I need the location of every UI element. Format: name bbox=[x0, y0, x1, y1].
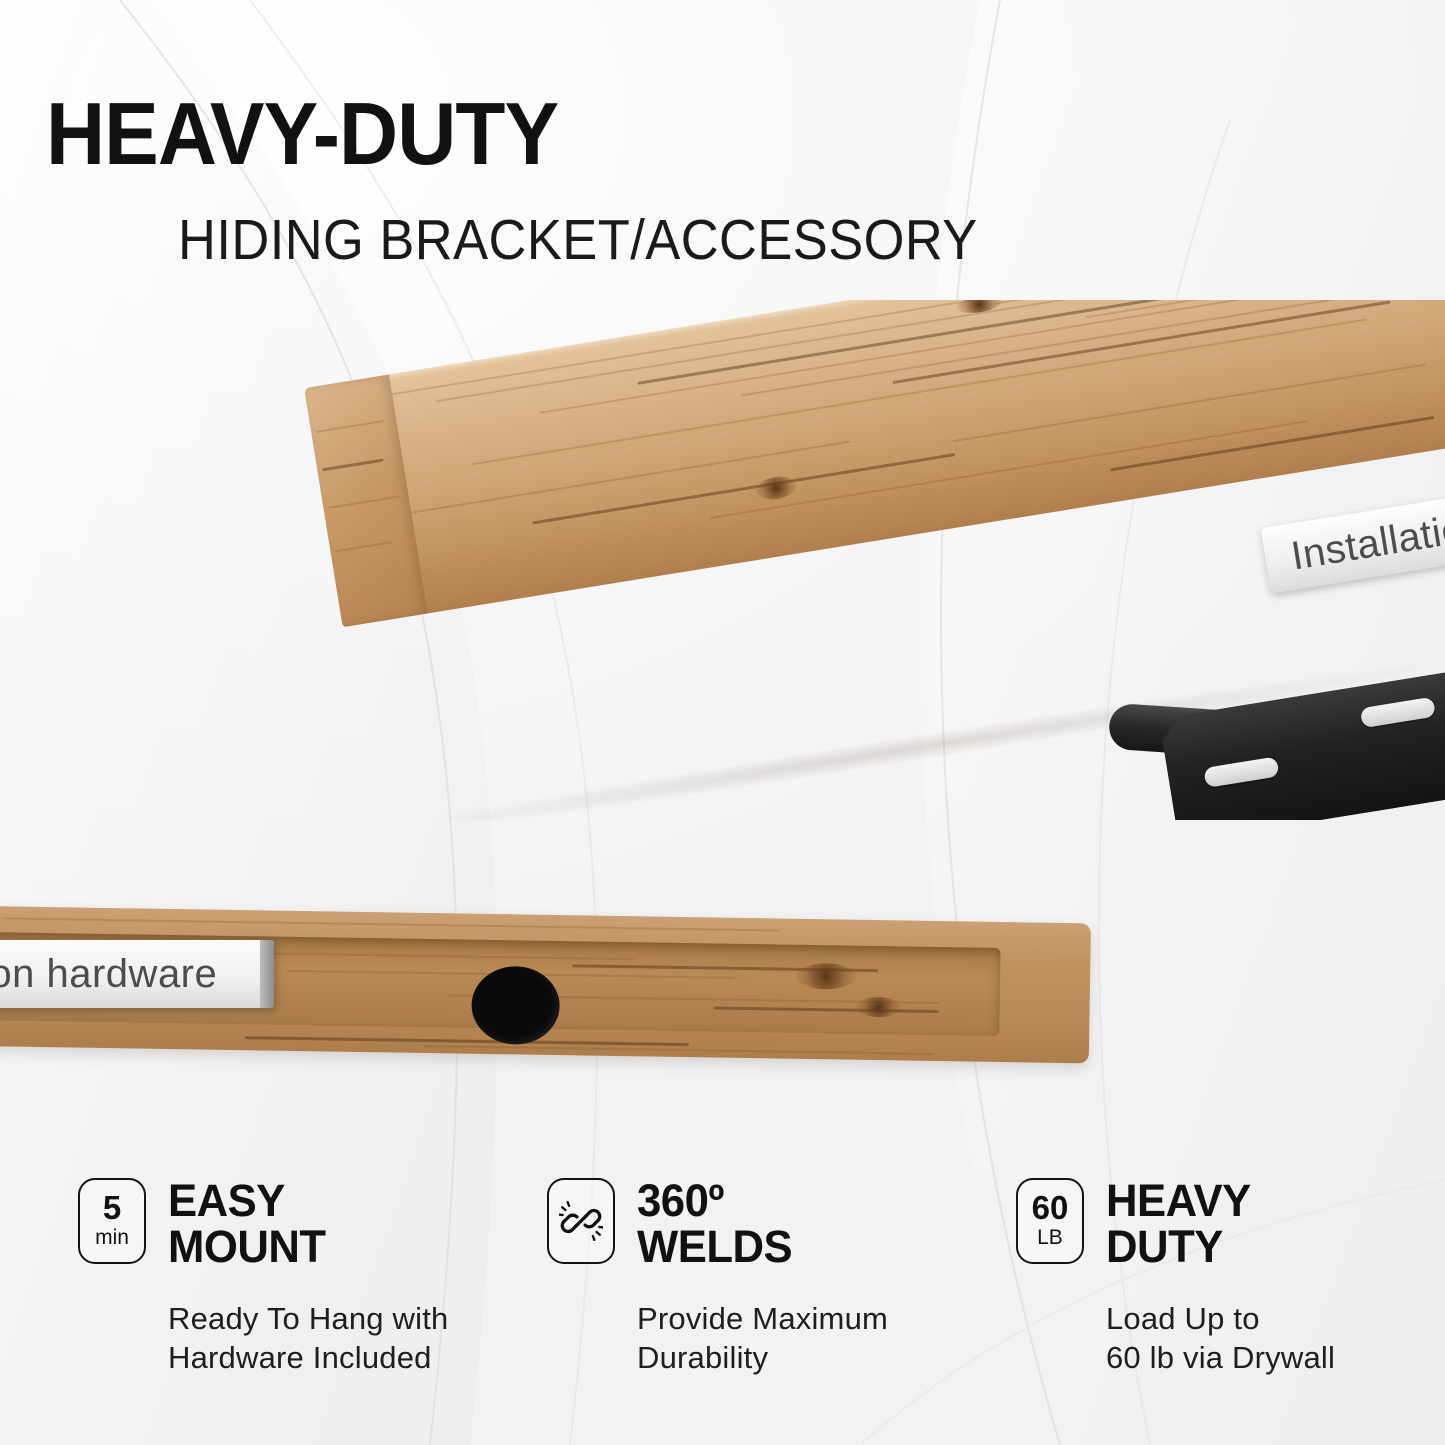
feature-heavy-duty: 60 LB HEAVY DUTY Load Up to 60 lb via Dr… bbox=[1016, 1178, 1445, 1438]
bracket-mounting-slot bbox=[1360, 697, 1436, 729]
feature-description: Provide Maximum Durability bbox=[637, 1299, 1006, 1378]
badge-value: 60 bbox=[1032, 1191, 1069, 1224]
chain-link-weld-icon bbox=[559, 1199, 603, 1243]
floating-shelf-board bbox=[306, 300, 1445, 684]
feature-heading: 60 LB HEAVY DUTY bbox=[1016, 1178, 1445, 1271]
feature-easy-mount: 5 min EASY MOUNT Ready To Hang with Hard… bbox=[78, 1178, 537, 1438]
badge-unit: LB bbox=[1037, 1226, 1063, 1250]
feature-description: Ready To Hang with Hardware Included bbox=[168, 1299, 537, 1378]
badge-60-lb: 60 LB bbox=[1016, 1178, 1084, 1264]
hiding-bracket bbox=[1104, 629, 1445, 820]
label-edge bbox=[260, 940, 274, 1008]
feature-heading: 5 min EASY MOUNT bbox=[78, 1178, 537, 1271]
feature-row: 5 min EASY MOUNT Ready To Hang with Hard… bbox=[0, 1178, 1445, 1438]
feature-360-welds: 360º WELDS Provide Maximum Durability bbox=[547, 1178, 1006, 1438]
feature-description: Load Up to 60 lb via Drywall bbox=[1106, 1299, 1445, 1378]
feature-title: 360º WELDS bbox=[637, 1178, 792, 1271]
page-subtitle: HIDING BRACKET/ACCESSORY bbox=[178, 212, 978, 269]
bottom-product-photo: ion hardware bbox=[0, 880, 1445, 1140]
badge-value: 5 bbox=[103, 1191, 121, 1224]
badge-weld-icon bbox=[547, 1178, 615, 1264]
top-product-photo: Installatio bbox=[0, 300, 1445, 820]
feature-title: EASY MOUNT bbox=[168, 1178, 326, 1271]
bracket-mounting-slot bbox=[1203, 756, 1279, 788]
badge-unit: min bbox=[95, 1226, 129, 1250]
page-title: HEAVY-DUTY bbox=[46, 92, 558, 176]
feature-title: HEAVY DUTY bbox=[1106, 1178, 1251, 1271]
cable-drill-hole bbox=[471, 966, 560, 1045]
installation-hardware-label-bottom: ion hardware bbox=[0, 940, 274, 1008]
badge-5-min: 5 min bbox=[78, 1178, 146, 1264]
bracket-wall-plate bbox=[1159, 660, 1445, 820]
feature-heading: 360º WELDS bbox=[547, 1178, 1006, 1271]
label-text: ion hardware bbox=[0, 952, 217, 997]
